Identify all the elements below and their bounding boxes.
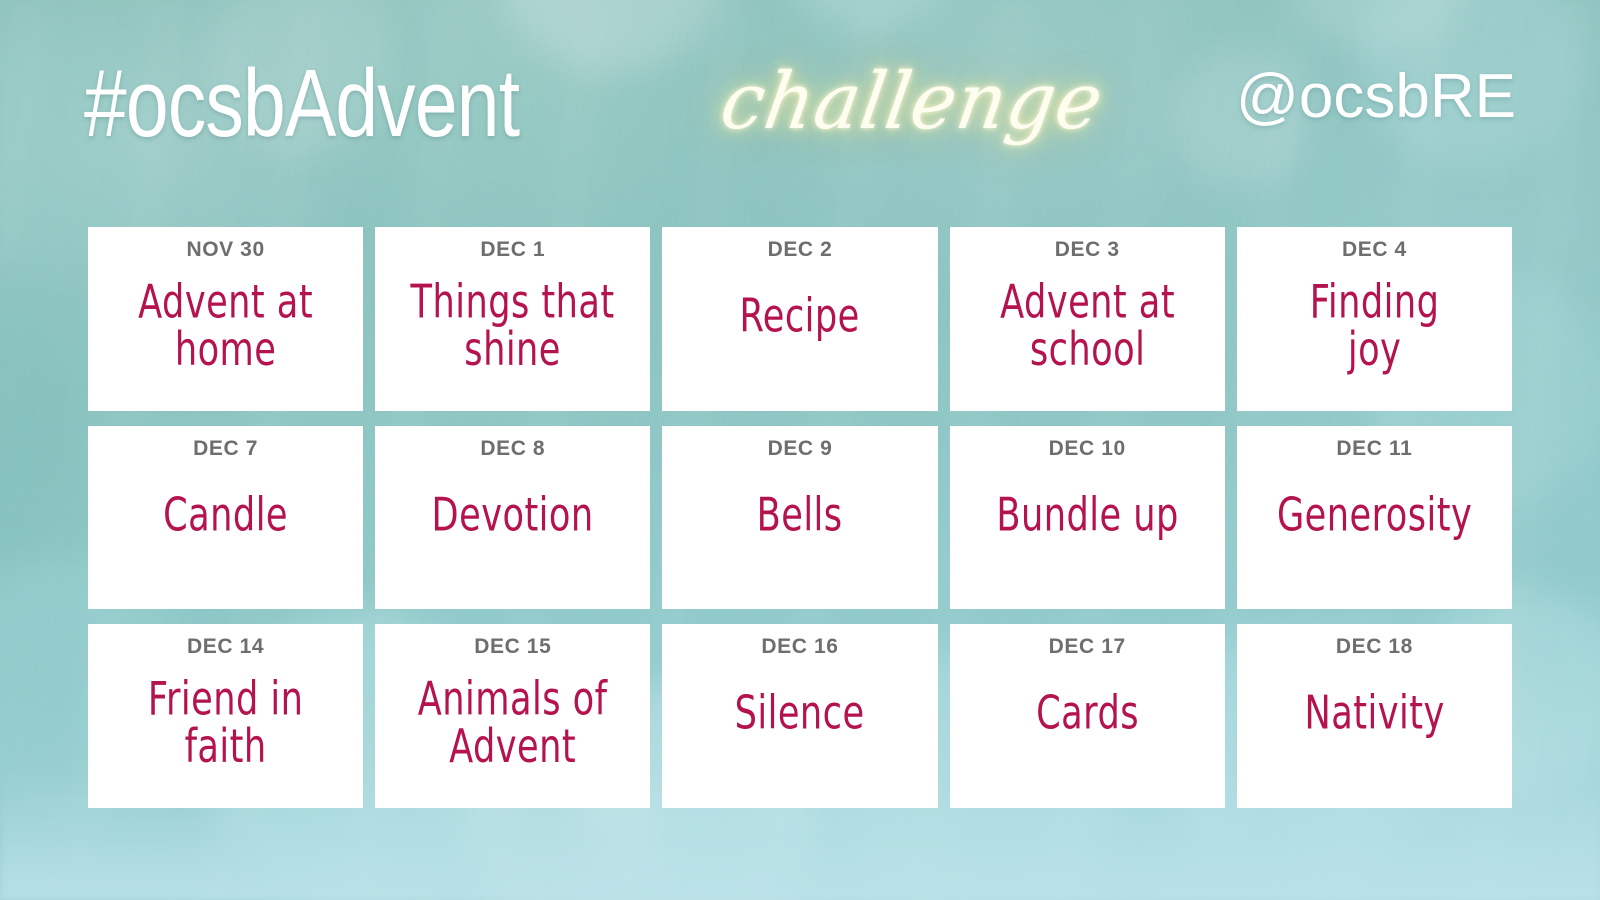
card-date-label: DEC 3: [950, 237, 1225, 263]
card-date-label: DEC 8: [375, 436, 650, 462]
card-date-label: DEC 17: [950, 634, 1225, 660]
calendar-card[interactable]: DEC 4Finding joy: [1237, 227, 1512, 411]
card-title-text: Advent at home: [110, 279, 342, 411]
calendar-card[interactable]: DEC 3Advent at school: [950, 227, 1225, 411]
calendar-card[interactable]: DEC 17Cards: [950, 624, 1225, 808]
card-title-text: Friend in faith: [110, 676, 342, 808]
calendar-card[interactable]: DEC 8Devotion: [375, 426, 650, 610]
card-date-label: DEC 2: [662, 237, 937, 263]
card-title-text: Animals of Advent: [397, 676, 629, 808]
card-title-text: Generosity: [1259, 492, 1491, 610]
card-title-text: Bundle up: [971, 492, 1203, 610]
advent-calendar-poster: #ocsbAdvent challenge @ocsbRE NOV 30Adve…: [0, 0, 1600, 900]
card-date-label: DEC 15: [375, 634, 650, 660]
card-date-label: DEC 4: [1237, 237, 1512, 263]
calendar-grid: NOV 30Advent at homeDEC 1Things that shi…: [88, 227, 1512, 808]
calendar-card[interactable]: DEC 1Things that shine: [375, 227, 650, 411]
card-date-label: DEC 10: [950, 436, 1225, 462]
social-handle: @ocsbRE: [1236, 58, 1516, 136]
card-title-text: Devotion: [397, 492, 629, 610]
calendar-card[interactable]: DEC 15Animals of Advent: [375, 624, 650, 808]
page-title-script-word: challenge: [714, 54, 1110, 152]
card-title-text: Bells: [684, 492, 916, 610]
calendar-card[interactable]: DEC 11Generosity: [1237, 426, 1512, 610]
calendar-card[interactable]: DEC 2Recipe: [662, 227, 937, 411]
card-title-text: Things that shine: [397, 279, 629, 411]
card-date-label: DEC 11: [1237, 436, 1512, 462]
card-title-text: Finding joy: [1259, 279, 1491, 411]
card-date-label: DEC 1: [375, 237, 650, 263]
card-date-label: DEC 9: [662, 436, 937, 462]
calendar-card[interactable]: DEC 7Candle: [88, 426, 363, 610]
calendar-card[interactable]: DEC 9Bells: [662, 426, 937, 610]
card-title-text: Advent at school: [971, 279, 1203, 411]
page-title-hashtag: #ocsbAdvent: [84, 44, 519, 164]
card-date-label: NOV 30: [88, 237, 363, 263]
calendar-card[interactable]: DEC 18Nativity: [1237, 624, 1512, 808]
card-date-label: DEC 18: [1237, 634, 1512, 660]
card-title-text: Candle: [110, 492, 342, 610]
calendar-card[interactable]: NOV 30Advent at home: [88, 227, 363, 411]
card-title-text: Recipe: [684, 293, 916, 411]
card-date-label: DEC 16: [662, 634, 937, 660]
card-date-label: DEC 14: [88, 634, 363, 660]
card-title-text: Nativity: [1259, 690, 1491, 808]
card-date-label: DEC 7: [88, 436, 363, 462]
card-title-text: Cards: [971, 690, 1203, 808]
calendar-card[interactable]: DEC 10Bundle up: [950, 426, 1225, 610]
card-title-text: Silence: [684, 690, 916, 808]
calendar-card[interactable]: DEC 16Silence: [662, 624, 937, 808]
calendar-card[interactable]: DEC 14Friend in faith: [88, 624, 363, 808]
poster-header: #ocsbAdvent challenge @ocsbRE: [0, 48, 1600, 188]
